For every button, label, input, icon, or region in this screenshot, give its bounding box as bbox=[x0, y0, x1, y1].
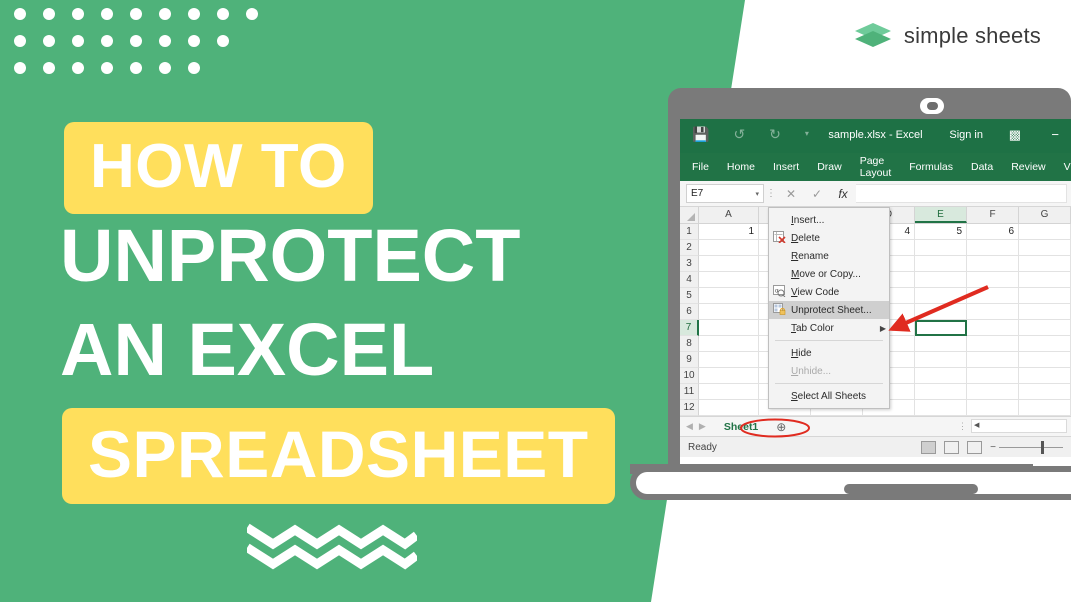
dot bbox=[188, 35, 200, 47]
cell-A7[interactable] bbox=[699, 320, 759, 336]
column-header-F[interactable]: F bbox=[967, 207, 1019, 223]
decorative-dot-grid bbox=[14, 8, 275, 89]
cell-G9[interactable] bbox=[1019, 352, 1071, 368]
row-header-9[interactable]: 9 bbox=[680, 352, 699, 368]
context-menu-item-label: Unprotect Sheet... bbox=[791, 305, 877, 316]
status-text: Ready bbox=[688, 442, 717, 453]
cell-G1[interactable] bbox=[1019, 224, 1071, 240]
dot bbox=[188, 62, 200, 74]
cell-E8[interactable] bbox=[915, 336, 967, 352]
context-menu-item-rename[interactable]: Rename bbox=[769, 247, 889, 265]
cell-G2[interactable] bbox=[1019, 240, 1071, 256]
dot bbox=[43, 8, 55, 20]
context-menu-separator bbox=[775, 340, 883, 341]
cell-E2[interactable] bbox=[915, 240, 967, 256]
cell-F10[interactable] bbox=[967, 368, 1019, 384]
row-header-8[interactable]: 8 bbox=[680, 336, 699, 352]
tab-bar-right-controls[interactable]: ⋮ bbox=[958, 419, 1067, 433]
dot bbox=[159, 62, 171, 74]
no-icon bbox=[773, 389, 791, 403]
cell-G10[interactable] bbox=[1019, 368, 1071, 384]
context-menu-item-hide[interactable]: Hide bbox=[769, 344, 889, 362]
formula-bar: E7 ▾ ⋮ ✕ ✓ fx bbox=[680, 181, 1071, 207]
dot bbox=[14, 35, 26, 47]
column-header-A[interactable]: A bbox=[699, 207, 759, 223]
dot bbox=[217, 35, 229, 47]
context-menu-item-label: Rename bbox=[791, 251, 877, 262]
no-icon bbox=[773, 213, 791, 227]
cell-F3[interactable] bbox=[967, 256, 1019, 272]
context-menu-item-label: Move or Copy... bbox=[791, 269, 877, 280]
cell-A9[interactable] bbox=[699, 352, 759, 368]
cell-A2[interactable] bbox=[699, 240, 759, 256]
page-layout-view-icon[interactable] bbox=[944, 441, 959, 454]
cancel-icon[interactable]: ✕ bbox=[778, 187, 804, 201]
context-menu-item-insert[interactable]: Insert... bbox=[769, 211, 889, 229]
dot bbox=[72, 8, 84, 20]
dot bbox=[188, 8, 200, 20]
context-menu-item-label: Unhide... bbox=[791, 366, 877, 377]
cell-A3[interactable] bbox=[699, 256, 759, 272]
cell-A5[interactable] bbox=[699, 288, 759, 304]
ribbon-tab-bar[interactable]: FileHomeInsertDrawPage LayoutFormulasDat… bbox=[680, 153, 1071, 181]
view-code-icon: α bbox=[773, 285, 791, 299]
cell-F2[interactable] bbox=[967, 240, 1019, 256]
excel-title-bar: 💾 ↺ ↻ ▾ sample.xlsx - Excel Sign in ▩ − bbox=[680, 119, 1071, 153]
ribbon-tab-page-layout[interactable]: Page Layout bbox=[860, 155, 892, 179]
cell-A11[interactable] bbox=[699, 384, 759, 400]
title-line-spreadsheet: SPREADSHEET bbox=[62, 408, 615, 504]
cell-A8[interactable] bbox=[699, 336, 759, 352]
dot bbox=[159, 35, 171, 47]
context-menu-item-label: Tab Color bbox=[791, 323, 877, 334]
zoom-handle[interactable] bbox=[1041, 441, 1044, 454]
cell-G4[interactable] bbox=[1019, 272, 1071, 288]
insert-function-icon[interactable]: fx bbox=[830, 187, 856, 201]
sign-in-button[interactable]: Sign in bbox=[949, 129, 983, 141]
dot bbox=[130, 8, 142, 20]
cell-A6[interactable] bbox=[699, 304, 759, 320]
column-header-G[interactable]: G bbox=[1019, 207, 1071, 223]
cell-G5[interactable] bbox=[1019, 288, 1071, 304]
dot bbox=[43, 62, 55, 74]
sheet-tab-context-menu[interactable]: Insert...DeleteRenameMove or Copy...αVie… bbox=[768, 207, 890, 409]
context-menu-item-move-or-copy[interactable]: Move or Copy... bbox=[769, 265, 889, 283]
dot bbox=[72, 35, 84, 47]
no-icon bbox=[773, 267, 791, 281]
cell-G6[interactable] bbox=[1019, 304, 1071, 320]
row-header-4[interactable]: 4 bbox=[680, 272, 699, 288]
ribbon-tab-review[interactable]: Review bbox=[1011, 161, 1045, 173]
row-header-2[interactable]: 2 bbox=[680, 240, 699, 256]
context-menu-item-tab-color[interactable]: Tab Color▶ bbox=[769, 319, 889, 337]
delete-sheet-icon bbox=[773, 231, 791, 245]
context-menu-item-unhide: Unhide... bbox=[769, 362, 889, 380]
ribbon-display-options-icon[interactable]: ▩ bbox=[1009, 127, 1021, 143]
laptop-mockup: 💾 ↺ ↻ ▾ sample.xlsx - Excel Sign in ▩ − … bbox=[668, 88, 1071, 518]
row-header-12[interactable]: 12 bbox=[680, 400, 699, 416]
row-header-7[interactable]: 7 bbox=[680, 320, 699, 336]
page-break-view-icon[interactable] bbox=[967, 441, 982, 454]
formula-input[interactable] bbox=[856, 184, 1067, 203]
cell-E9[interactable] bbox=[915, 352, 967, 368]
select-all-corner-icon[interactable] bbox=[680, 207, 699, 223]
context-menu-item-label: Hide bbox=[791, 348, 877, 359]
no-icon bbox=[773, 364, 791, 378]
name-box[interactable]: E7 ▾ bbox=[686, 184, 764, 203]
cell-G12[interactable] bbox=[1019, 400, 1071, 416]
dot bbox=[130, 35, 142, 47]
cell-F1[interactable]: 6 bbox=[967, 224, 1019, 240]
cell-E1[interactable]: 5 bbox=[915, 224, 967, 240]
no-icon bbox=[773, 321, 791, 335]
cell-E3[interactable] bbox=[915, 256, 967, 272]
context-menu-separator bbox=[775, 383, 883, 384]
dot bbox=[246, 8, 258, 20]
laptop-lid: 💾 ↺ ↻ ▾ sample.xlsx - Excel Sign in ▩ − … bbox=[668, 88, 1071, 464]
ribbon-tab-home[interactable]: Home bbox=[727, 161, 755, 173]
dot bbox=[159, 8, 171, 20]
status-bar: Ready − bbox=[680, 436, 1071, 457]
context-menu-item-select-all-sheets[interactable]: Select All Sheets bbox=[769, 387, 889, 405]
ribbon-tab-draw[interactable]: Draw bbox=[817, 161, 842, 173]
unprotect-sheet-icon bbox=[773, 303, 791, 317]
trackpad bbox=[844, 484, 978, 494]
normal-view-icon[interactable] bbox=[921, 441, 936, 454]
dot bbox=[217, 8, 229, 20]
cell-A4[interactable] bbox=[699, 272, 759, 288]
title-line-how-to: HOW TO bbox=[64, 122, 373, 214]
row-header-column[interactable]: 123456789101112 bbox=[680, 224, 699, 416]
cell-F12[interactable] bbox=[967, 400, 1019, 416]
ribbon-tab-insert[interactable]: Insert bbox=[773, 161, 799, 173]
context-menu-item-label: Delete bbox=[791, 233, 877, 244]
dot-row bbox=[14, 35, 275, 62]
cell-A12[interactable] bbox=[699, 400, 759, 416]
no-icon bbox=[773, 249, 791, 263]
column-header-E[interactable]: E bbox=[915, 207, 967, 223]
row-header-1[interactable]: 1 bbox=[680, 224, 699, 240]
dot bbox=[101, 8, 113, 20]
webcam-icon bbox=[920, 98, 944, 114]
chevron-down-icon[interactable]: ▾ bbox=[755, 190, 759, 198]
row-header-10[interactable]: 10 bbox=[680, 368, 699, 384]
status-bar-right[interactable]: − bbox=[921, 437, 1063, 458]
laptop-base-tray bbox=[630, 466, 1071, 500]
logo-text: simple sheets bbox=[904, 23, 1041, 49]
laptop-base bbox=[630, 466, 1071, 510]
dot bbox=[72, 62, 84, 74]
split-handle-icon[interactable]: ⋮ bbox=[958, 421, 967, 432]
title-line-unprotect: UNPROTECT bbox=[60, 218, 520, 294]
name-box-value: E7 bbox=[691, 188, 703, 199]
sheet-nav-arrows-icon[interactable]: ◀▶ bbox=[686, 421, 712, 432]
context-menu-item-label: Insert... bbox=[791, 215, 877, 226]
context-menu-item-unprotect-sheet[interactable]: Unprotect Sheet... bbox=[769, 301, 889, 319]
dot bbox=[101, 62, 113, 74]
cell-A10[interactable] bbox=[699, 368, 759, 384]
minimize-icon[interactable]: − bbox=[1051, 127, 1059, 142]
dot bbox=[14, 8, 26, 20]
cell-F8[interactable] bbox=[967, 336, 1019, 352]
dot-row bbox=[14, 62, 275, 89]
context-menu-item-label: View Code bbox=[791, 287, 877, 298]
cell-G8[interactable] bbox=[1019, 336, 1071, 352]
laptop-screen: 💾 ↺ ↻ ▾ sample.xlsx - Excel Sign in ▩ − … bbox=[680, 119, 1071, 464]
context-menu-item-delete[interactable]: Delete bbox=[769, 229, 889, 247]
zoom-slider[interactable]: − bbox=[990, 442, 1063, 453]
ribbon-tab-file[interactable]: File bbox=[692, 161, 709, 173]
cell-A1[interactable]: 1 bbox=[699, 224, 759, 240]
zoom-out-button[interactable]: − bbox=[990, 442, 996, 453]
red-arrow-annotation bbox=[876, 283, 996, 335]
dot bbox=[130, 62, 142, 74]
dot bbox=[14, 62, 26, 74]
cell-E12[interactable] bbox=[915, 400, 967, 416]
row-header-5[interactable]: 5 bbox=[680, 288, 699, 304]
title-line-an-excel: AN EXCEL bbox=[60, 312, 434, 388]
cell-G7[interactable] bbox=[1019, 320, 1071, 336]
brand-logo: simple sheets bbox=[853, 20, 1041, 52]
context-menu-item-label: Select All Sheets bbox=[791, 391, 877, 402]
ribbon-tab-formulas[interactable]: Formulas bbox=[909, 161, 953, 173]
ribbon-tab-view[interactable]: View bbox=[1064, 161, 1071, 173]
enter-icon[interactable]: ✓ bbox=[804, 187, 830, 201]
cell-G11[interactable] bbox=[1019, 384, 1071, 400]
no-icon bbox=[773, 346, 791, 360]
dot-row bbox=[14, 8, 275, 35]
formula-bar-divider-icon: ⋮ bbox=[764, 188, 778, 199]
cell-F11[interactable] bbox=[967, 384, 1019, 400]
spreadsheet-grid[interactable]: ABCDEFG 123456789101112 1456 Insert...De… bbox=[680, 207, 1071, 416]
sheet-tab-bar[interactable]: ◀▶ Sheet1 ⊕ ⋮ bbox=[680, 416, 1071, 436]
zoom-track[interactable] bbox=[999, 447, 1063, 448]
cell-E10[interactable] bbox=[915, 368, 967, 384]
row-header-11[interactable]: 11 bbox=[680, 384, 699, 400]
red-ellipse-annotation bbox=[738, 418, 812, 438]
dot bbox=[101, 35, 113, 47]
zigzag-decoration bbox=[247, 518, 417, 570]
row-header-3[interactable]: 3 bbox=[680, 256, 699, 272]
cell-F9[interactable] bbox=[967, 352, 1019, 368]
row-header-6[interactable]: 6 bbox=[680, 304, 699, 320]
context-menu-item-view-code[interactable]: αView Code bbox=[769, 283, 889, 301]
cell-E11[interactable] bbox=[915, 384, 967, 400]
dot bbox=[43, 35, 55, 47]
cell-G3[interactable] bbox=[1019, 256, 1071, 272]
ribbon-tab-data[interactable]: Data bbox=[971, 161, 993, 173]
stacked-sheets-icon bbox=[853, 20, 893, 52]
horizontal-scrollbar[interactable] bbox=[971, 419, 1067, 433]
